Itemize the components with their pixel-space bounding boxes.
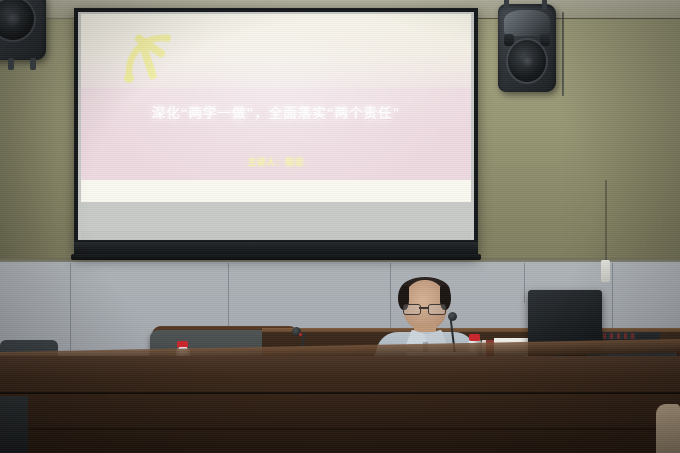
speaker-port	[540, 34, 550, 46]
foreground-object	[656, 404, 680, 453]
wall-panel-line	[70, 263, 71, 363]
side-cabinet	[0, 396, 28, 453]
screen-unlit-area	[81, 231, 471, 240]
slide-white-band	[81, 180, 471, 202]
desk-groove	[0, 428, 680, 430]
projected-slide: 深化“两学一做”，全面落实“两个责任” 主讲人：陈宏	[81, 14, 471, 202]
slide-title: 深化“两学一做”，全面落实“两个责任”	[81, 102, 471, 122]
microphone-indicator	[299, 333, 302, 336]
wall-speaker-right	[498, 4, 556, 92]
screen-weight-bar	[71, 254, 481, 260]
speaker-dome	[522, 56, 533, 67]
speaker-bracket-left	[8, 58, 14, 70]
wall-cable	[605, 180, 607, 262]
speaker-port	[504, 34, 514, 46]
amplifier-controls	[596, 333, 636, 339]
wall-panel-line	[524, 263, 525, 303]
slide-subtitle: 主讲人：陈宏	[81, 156, 471, 168]
front-desk	[0, 356, 680, 453]
wall-outlet-plate	[601, 260, 610, 282]
speaker-horn	[504, 10, 550, 36]
cpc-party-emblem	[119, 28, 179, 86]
projection-screen: 深化“两学一做”，全面落实“两个责任” 主讲人：陈宏	[74, 8, 478, 256]
bottle-cap	[469, 334, 480, 341]
speaker-bracket-right	[504, 0, 509, 10]
desk-groove	[0, 392, 680, 394]
microphone-head	[448, 312, 457, 321]
conference-room-photo: 深化“两学一做”，全面落实“两个责任” 主讲人：陈宏	[0, 0, 680, 453]
screen-surface: 深化“两学一做”，全面落实“两个责任” 主讲人：陈宏	[78, 12, 474, 240]
speaker-bracket-left	[30, 58, 36, 70]
eyeglasses-lens-left	[403, 304, 421, 315]
eyeglasses-bridge	[419, 307, 428, 309]
speaker-dome	[6, 12, 20, 26]
eyeglasses-lens-right	[428, 304, 446, 315]
wall-speaker-left	[0, 0, 46, 60]
speaker-bracket-right	[542, 0, 547, 10]
speaker-cable	[562, 12, 564, 96]
